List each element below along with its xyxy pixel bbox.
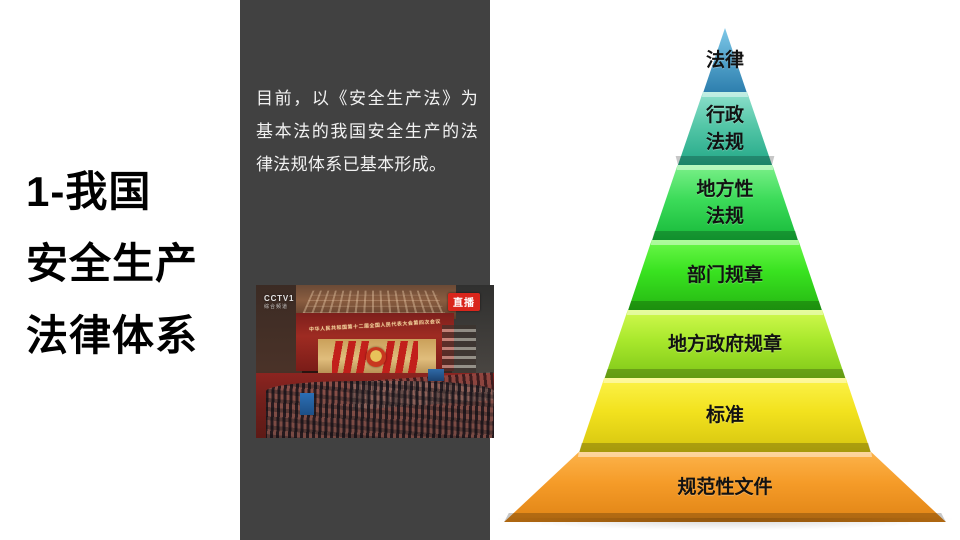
pyramid-tier-2-label: 行政 法规 (706, 102, 744, 156)
pyramid-tier-3-label: 地方性 法规 (696, 176, 753, 230)
pyramid-tier-1[interactable]: 法律 (490, 28, 960, 92)
panel-paragraph: 目前，以《安全生产法》为基本法的我国安全生产的法律法规体系已基本形成。 (256, 82, 478, 181)
pyramid-tier-3-top-edge (490, 165, 960, 170)
pyramid-tier-3[interactable]: 地方性 法规 (490, 165, 960, 240)
pyramid-tier-1-label: 法律 (706, 47, 744, 74)
photo-blue-screen-right (428, 369, 444, 381)
cctv-logo-text: CCTV (264, 294, 289, 303)
cctv-logo-icon: CCTV1 综合频道 (264, 294, 294, 312)
title-line-2: 安全生产 (26, 228, 236, 300)
pyramid-tier-7-bottom-shade (490, 513, 960, 522)
photo-side-balcony (442, 325, 476, 377)
photo-blue-screen-left (300, 393, 314, 415)
dark-content-panel: 目前，以《安全生产法》为基本法的我国安全生产的法律法规体系已基本形成。 (240, 0, 490, 540)
cctv-channel-sub: 综合频道 (264, 303, 294, 312)
pyramid-tier-4[interactable]: 部门规章 (490, 240, 960, 310)
pyramid-tier-5-top-edge (490, 310, 960, 315)
pyramid-tier-6-label: 标准 (706, 402, 744, 429)
pyramid-tier-7-label: 规范性文件 (677, 474, 772, 501)
legal-hierarchy-pyramid: 法律 行政 法规 地方性 法规 部门规章 地方政府规章 (490, 0, 960, 540)
page-title: 1-我国 安全生产 法律体系 (26, 156, 236, 372)
live-badge: 直播 (448, 293, 480, 311)
pyramid-tier-5-bottom-shade (490, 369, 960, 378)
photo-ceiling-grid (303, 291, 446, 313)
national-emblem-icon (366, 347, 386, 367)
pyramid-tier-6[interactable]: 标准 (490, 378, 960, 452)
pyramid-tier-3-bottom-shade (490, 231, 960, 240)
cctv-channel-number: 1 (289, 294, 294, 303)
slide-canvas: 1-我国 安全生产 法律体系 目前，以《安全生产法》为基本法的我国安全生产的法律… (0, 0, 960, 540)
pyramid-tier-6-bottom-shade (490, 443, 960, 452)
pyramid-tier-5[interactable]: 地方政府规章 (490, 310, 960, 378)
pyramid-tier-4-label: 部门规章 (687, 262, 763, 289)
title-line-1: 1-我国 (26, 156, 236, 228)
pyramid-tier-7[interactable]: 规范性文件 (490, 452, 960, 522)
pyramid-tier-2-top-edge (490, 92, 960, 97)
pyramid-tier-2-bottom-shade (490, 156, 960, 165)
pyramid-tier-2[interactable]: 行政 法规 (490, 92, 960, 165)
title-line-3: 法律体系 (26, 300, 236, 372)
pyramid-tier-5-label: 地方政府规章 (668, 331, 782, 358)
pyramid-tier-6-top-edge (490, 378, 960, 383)
npc-congress-photo: 中华人民共和国第十二届全国人民代表大会第四次会议 CCTV1 综合频道 直播 (256, 285, 494, 438)
pyramid-tier-4-top-edge (490, 240, 960, 245)
pyramid-tier-7-top-edge (490, 452, 960, 457)
pyramid-tier-4-bottom-shade (490, 301, 960, 310)
